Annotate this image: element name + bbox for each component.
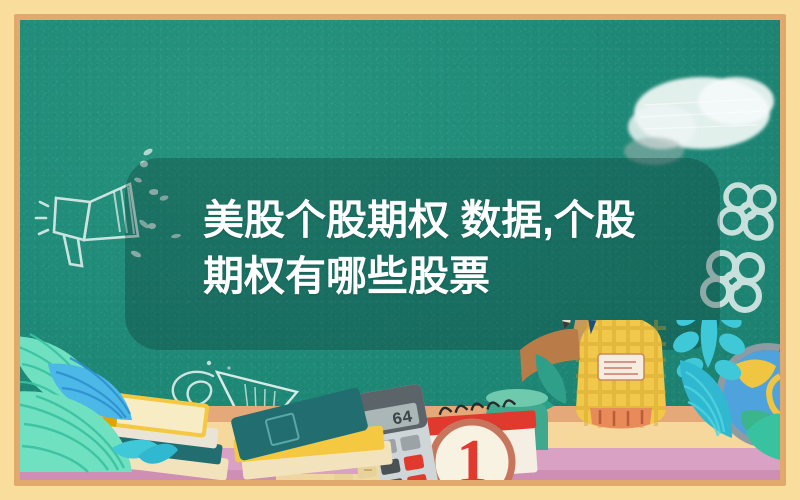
page-title-line-2: 期权有哪些股票 bbox=[203, 253, 490, 299]
banner-image: 美股个股期权 数据,个股期权有哪些股票 bbox=[0, 0, 800, 500]
page-title-line-1: 美股个股期权 数据,个股 bbox=[203, 197, 636, 243]
page-title: 美股个股期权 数据,个股期权有哪些股票 bbox=[203, 192, 663, 304]
chalkboard-surface: 美股个股期权 数据,个股期权有哪些股票 bbox=[20, 20, 780, 480]
